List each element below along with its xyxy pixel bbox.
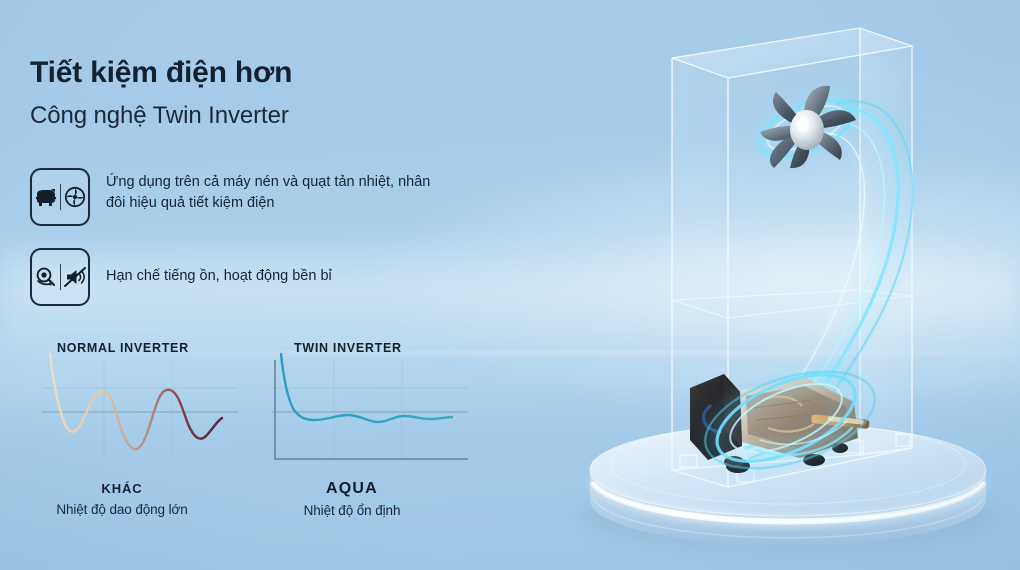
background-vignette xyxy=(0,0,1020,570)
banner-stage: Tiết kiệm điện hơn Công nghệ Twin Invert… xyxy=(0,0,1020,570)
